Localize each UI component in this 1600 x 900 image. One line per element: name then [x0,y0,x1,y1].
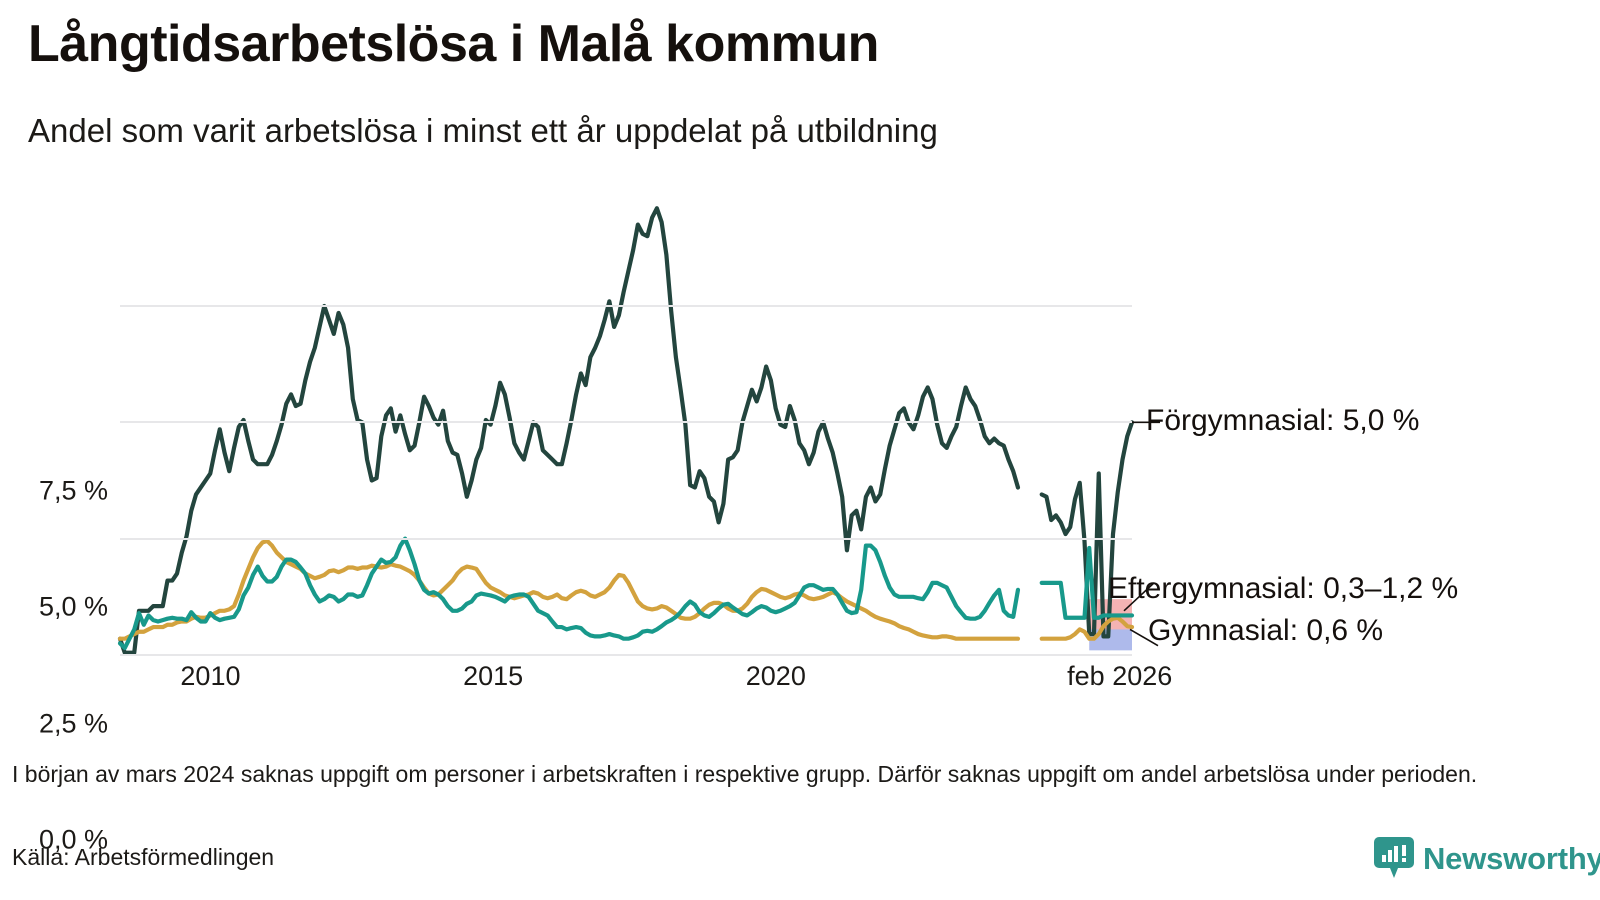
gridline-5 [120,421,1132,423]
chart-page: Långtidsarbetslösa i Malå kommun Andel s… [0,0,1600,900]
newsworthy-wordmark: Newsworthy [1423,843,1600,874]
gridline-2-5 [120,538,1132,540]
x-tick-label: 2020 [746,661,806,692]
annotation-forgymnasial: Förgymnasial: 5,0 % [1146,404,1419,438]
series-canvas [120,185,1132,655]
chart-source: Källa: Arbetsförmedlingen [12,844,274,871]
y-tick-label: 5,0 % [4,592,108,623]
x-tick-label: 2015 [463,661,523,692]
y-tick-label: 7,5 % [4,475,108,506]
chart-title: Långtidsarbetslösa i Malå kommun [28,14,879,74]
newsworthy-logo: Newsworthy [1374,836,1600,880]
chart-subtitle: Andel som varit arbetslösa i minst ett å… [28,112,938,150]
x-tick-label: feb 2026 [1067,661,1172,692]
bar-chart-alert-icon [1374,837,1414,879]
plot-region [120,185,1132,655]
gridline-7-5 [120,305,1132,307]
annotation-gymnasial: Gymnasial: 0,6 % [1148,614,1383,648]
x-tick-label: 2010 [180,661,240,692]
gridline-0 [120,654,1132,656]
series-line-gymnasial [120,541,1018,639]
series-line-förgymnasial [120,208,1018,652]
y-tick-label: 2,5 % [4,708,108,739]
chart-note: I början av mars 2024 saknas uppgift om … [12,760,1532,788]
annotation-eftergymnasial: Eftergymnasial: 0,3–1,2 % [1108,572,1458,606]
